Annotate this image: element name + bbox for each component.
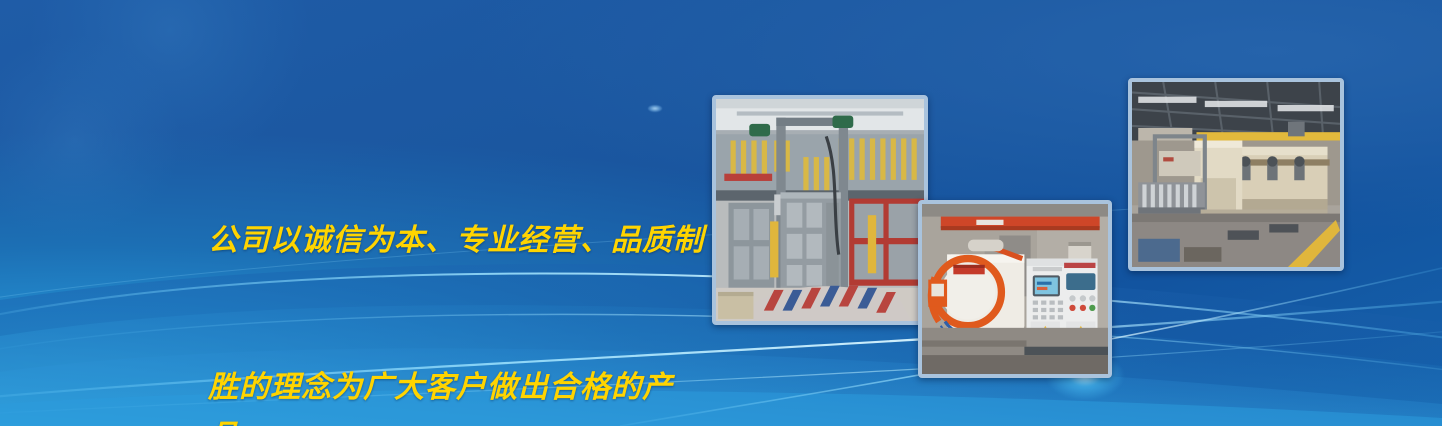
company-banner: 公司以诚信为本、专业经营、品质制 胜的理念为广大客户做出合格的产品。 主要产品：…: [0, 0, 1442, 426]
photo-vacuum-furnace-with-control-cabinet: [918, 200, 1112, 378]
sparkle-highlight-icon: [648, 105, 662, 112]
headline-line-2: 胜的理念为广大客户做出合格的产品。: [208, 363, 728, 426]
photo-well-type-heat-treatment-furnace: [712, 95, 928, 325]
photo-continuous-mesh-belt-furnace-line: [1128, 78, 1344, 271]
banner-headline: 公司以诚信为本、专业经营、品质制 胜的理念为广大客户做出合格的产品。 主要产品：…: [208, 118, 728, 426]
headline-line-1: 公司以诚信为本、专业经营、品质制: [208, 216, 728, 265]
